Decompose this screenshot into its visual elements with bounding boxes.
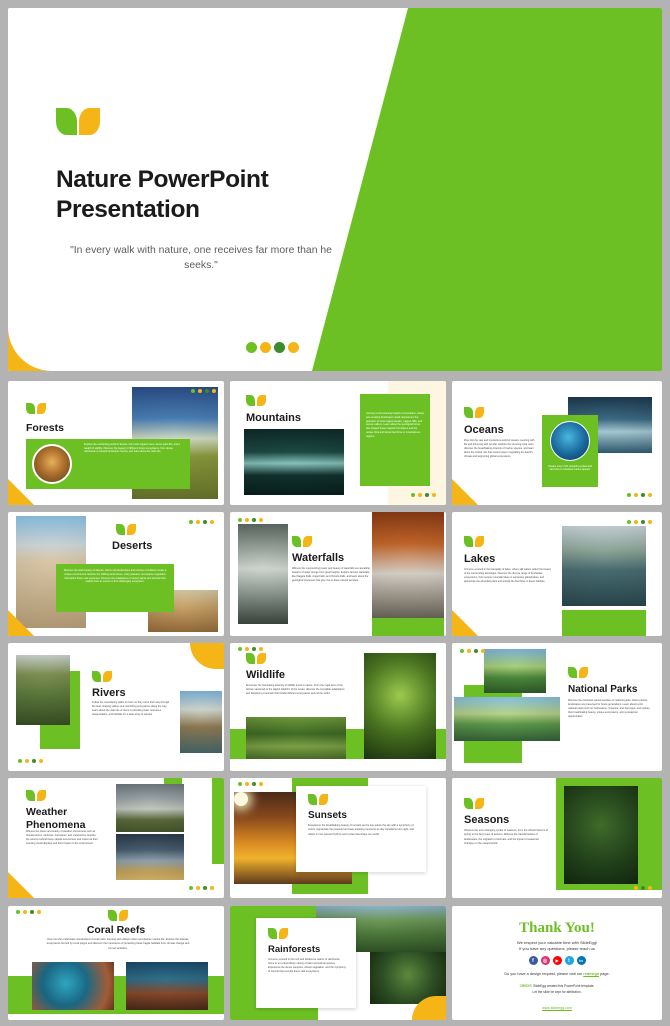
brand-leaf-logo [308, 794, 328, 805]
slide-heading: Deserts [112, 540, 152, 552]
leaf-yellow-icon [37, 403, 46, 414]
leaf-yellow-icon [103, 671, 112, 682]
slide-title[interactable]: Nature PowerPoint Presentation "In every… [8, 8, 662, 371]
leaf-green-icon [108, 910, 117, 921]
dot-4 [259, 647, 263, 651]
waterfalls-photo-right [372, 512, 444, 618]
dot-1 [238, 647, 242, 651]
leaf-green-icon [464, 407, 473, 418]
pagination-dots [191, 389, 216, 393]
slide-rivers[interactable]: Rivers Follow the meandering paths of ri… [8, 643, 224, 771]
pagination-dots [16, 910, 41, 914]
twitter-icon[interactable]: t [565, 956, 574, 965]
dot-3 [274, 342, 285, 353]
brand-leaf-logo [268, 928, 288, 939]
slide-deserts[interactable]: Deserts Discover the stark beauty of des… [8, 512, 224, 636]
leaf-green-icon [308, 794, 317, 805]
slide-national-parks[interactable]: National Parks Discover the protected na… [452, 643, 662, 771]
credit-note: Let the slide be kept for attribution. [452, 990, 662, 994]
slide-body: Dive into the vast and mysterious world … [464, 439, 538, 459]
slide-body: Immerse yourself in the lush and biodive… [268, 958, 346, 975]
design-request-prefix: Do you have a design request, please vis… [504, 972, 582, 976]
brand-leaf-logo [246, 653, 266, 664]
np-photo-top [484, 649, 546, 693]
oceans-circle-photo [550, 421, 590, 461]
slide-heading: Waterfalls [292, 552, 344, 564]
slide-rainforests[interactable]: Rainforests Immerse yourself in the lush… [230, 906, 446, 1020]
pagination-dots [627, 493, 652, 497]
slide-body: Discover the stark beauty of deserts, wh… [62, 569, 168, 584]
slide-mountains[interactable]: Mountains Journey to the towering height… [230, 381, 446, 505]
brand-leaf-logo [26, 403, 46, 414]
slide-body: Experience the breathtaking beauty of su… [308, 824, 416, 837]
leaf-green-icon [26, 403, 35, 414]
dot-1 [18, 759, 22, 763]
leaf-yellow-icon [279, 928, 288, 939]
pagination-dots [189, 520, 214, 524]
dot-3 [641, 493, 645, 497]
dot-4 [37, 910, 41, 914]
slide-waterfalls[interactable]: Waterfalls Witness the mesmerizing power… [230, 512, 446, 636]
slide-seasons[interactable]: Seasons Observe the ever-changing cycles… [452, 778, 662, 898]
slide-heading: Coral Reefs [8, 924, 224, 936]
brand-leaf-logo [108, 910, 128, 921]
leaf-yellow-icon [475, 798, 484, 809]
rivers-yellow-corner-shape [190, 643, 224, 669]
dot-2 [245, 782, 249, 786]
yellow-corner-shape [8, 872, 34, 898]
presentation-thumbnail-sheet: Nature PowerPoint Presentation "In every… [0, 0, 670, 1026]
slide-heading: Sunsets [308, 810, 347, 821]
youtube-icon[interactable]: ▶ [553, 956, 562, 965]
brand-leaf-logo [464, 407, 484, 418]
dot-1 [460, 649, 464, 653]
dot-1 [627, 886, 631, 890]
leaf-green-icon [26, 790, 35, 801]
weather-photo-bottom [116, 834, 184, 880]
rainforests-text-card: Rainforests Immerse yourself in the lush… [256, 918, 356, 1008]
leaf-yellow-icon [475, 407, 484, 418]
slide-heading: Wildlife [246, 669, 285, 681]
coral-photo-right [126, 962, 208, 1010]
np-photo-bottom [454, 697, 560, 741]
leaf-yellow-icon [257, 395, 266, 406]
slide-body: Dive into the underwater wonderland of c… [44, 938, 192, 951]
slide-heading: Lakes [464, 553, 495, 565]
yellow-corner-shape [452, 479, 478, 505]
dot-3 [203, 886, 207, 890]
dot-3 [641, 520, 645, 524]
slide-heading: Seasons [464, 814, 509, 826]
dot-4 [481, 649, 485, 653]
slide-weather-phenomena[interactable]: Weather Phenomena Witness the power and … [8, 778, 224, 898]
oceans-caption: Oceans cover 71% of Earth's surface and … [547, 465, 593, 472]
slide-heading: Weather Phenomena [26, 806, 96, 832]
weather-green-strip [212, 778, 224, 864]
pagination-dots [460, 649, 485, 653]
leaf-yellow-icon [579, 667, 588, 678]
thank-you-line-2: If you have any questions, please reach … [452, 946, 662, 952]
dot-3 [425, 493, 429, 497]
slide-body: Journey to the towering heights of mount… [366, 412, 424, 438]
pagination-dots [627, 886, 652, 890]
dot-2 [260, 342, 271, 353]
slide-heading: Oceans [464, 424, 504, 436]
dot-4 [288, 342, 299, 353]
dot-4 [432, 493, 436, 497]
dot-4 [259, 518, 263, 522]
dot-3 [252, 782, 256, 786]
dot-1 [16, 910, 20, 914]
leaf-green-icon [568, 667, 577, 678]
website-url[interactable]: www.slideegg.com [452, 1006, 662, 1010]
leaf-yellow-icon [37, 790, 46, 801]
slide-heading: Mountains [246, 412, 301, 424]
lakes-green-bar [562, 610, 646, 636]
leaf-green-icon [246, 653, 255, 664]
dot-2 [196, 886, 200, 890]
slide-body: Witness the mesmerizing power and beauty… [292, 567, 370, 583]
dot-4 [259, 782, 263, 786]
dot-4 [210, 520, 214, 524]
sunsets-text-card: Sunsets Experience the breathtaking beau… [296, 786, 426, 872]
slide-heading: Forests [26, 422, 64, 434]
dot-2 [25, 759, 29, 763]
thank-you-title: Thank You! [452, 920, 662, 937]
yellow-corner-shape [452, 610, 478, 636]
slide-thank-you[interactable]: Thank You! We respect your valuable time… [452, 906, 662, 1020]
leaf-yellow-icon [475, 536, 484, 547]
slide-body: Witness the power and beauty of weather … [26, 830, 100, 846]
credit-label: CREDIT: [520, 984, 533, 988]
slide-heading: National Parks [568, 684, 637, 695]
dot-4 [212, 389, 216, 393]
slide-heading: Rainforests [268, 944, 320, 955]
dot-2 [634, 886, 638, 890]
lakes-photo [562, 526, 646, 606]
pagination-dots [18, 759, 43, 763]
dot-1 [189, 520, 193, 524]
leaf-yellow-icon [319, 794, 328, 805]
leaf-yellow-icon [127, 524, 136, 535]
brand-leaf-logo [26, 790, 46, 801]
dot-2 [467, 649, 471, 653]
leaf-yellow-icon [79, 108, 100, 135]
pagination-dots [238, 647, 263, 651]
brand-leaf-logo [92, 671, 112, 682]
slide-forests[interactable]: Forests Explore the enchanting world of … [8, 381, 224, 505]
dot-4 [648, 493, 652, 497]
mountains-photo [244, 429, 344, 495]
coral-photo-left [32, 962, 114, 1010]
credit-line-1: CREDIT: SlideEgg created this PowerPoint… [452, 984, 662, 988]
leaf-yellow-icon [119, 910, 128, 921]
slide-lakes[interactable]: Lakes Immerse yourself in the tranquilit… [452, 512, 662, 636]
pagination-dots [238, 782, 263, 786]
design-request-suffix: page. [600, 972, 610, 976]
rivers-photo-canyon [180, 691, 222, 753]
pagination-dots [238, 518, 263, 522]
leaf-green-icon [464, 798, 473, 809]
leaf-green-icon [246, 395, 255, 406]
leaf-yellow-icon [257, 653, 266, 664]
dot-3 [474, 649, 478, 653]
slide-body: Follow the meandering paths of rivers as… [92, 701, 170, 717]
dot-2 [245, 518, 249, 522]
slide-sunsets[interactable]: Sunsets Experience the breathtaking beau… [230, 778, 446, 898]
oceans-green-text-panel: Oceans cover 71% of Earth's surface and … [542, 415, 598, 487]
dot-1 [411, 493, 415, 497]
dot-3 [32, 759, 36, 763]
dot-2 [418, 493, 422, 497]
hero-quote: "In every walk with nature, one receives… [56, 243, 346, 273]
brand-leaf-logo [464, 536, 484, 547]
page-title: Nature PowerPoint Presentation [56, 165, 346, 225]
dot-1 [189, 886, 193, 890]
mountains-green-text-panel: Journey to the towering heights of mount… [360, 394, 430, 486]
brand-leaf-logo [56, 108, 346, 135]
dot-4 [39, 759, 43, 763]
dot-1 [238, 518, 242, 522]
dot-2 [634, 520, 638, 524]
brand-leaf-logo [116, 524, 136, 535]
wildlife-photo-giraffes [246, 717, 346, 759]
seasons-photo [564, 786, 638, 884]
slide-coral-reefs[interactable]: Coral Reefs Dive into the underwater won… [8, 906, 224, 1020]
dot-4 [648, 520, 652, 524]
leaf-green-icon [292, 536, 301, 547]
waterfalls-photo-left [238, 524, 288, 624]
social-links[interactable]: f ◎ ▶ t in [452, 956, 662, 965]
leaf-yellow-icon [303, 536, 312, 547]
dot-1 [627, 520, 631, 524]
dot-4 [648, 886, 652, 890]
dot-3 [30, 910, 34, 914]
linkedin-icon[interactable]: in [577, 956, 586, 965]
wildlife-photo-canopy [364, 653, 436, 759]
waterfalls-green-bar [372, 618, 444, 636]
slide-body: Encounter the fascinating diversity of w… [246, 684, 346, 696]
slide-body: Discover the protected natural wonders o… [568, 699, 650, 719]
leaf-green-icon [116, 524, 125, 535]
brand-leaf-logo [246, 395, 266, 406]
leaf-green-icon [56, 108, 77, 135]
leaf-green-icon [268, 928, 277, 939]
brand-leaf-logo [568, 667, 588, 678]
credit-text: SlideEgg created this PowerPoint templat… [533, 984, 594, 988]
dot-2 [23, 910, 27, 914]
dot-1 [191, 389, 195, 393]
dot-2 [634, 493, 638, 497]
dot-1 [238, 782, 242, 786]
dot-3 [252, 518, 256, 522]
instagram-icon[interactable]: ◎ [541, 956, 550, 965]
slide-wildlife[interactable]: Wildlife Encounter the fascinating diver… [230, 643, 446, 771]
forests-circle-photo [32, 444, 72, 484]
slide-body: Immerse yourself in the tranquility of l… [464, 568, 552, 584]
hero-content: Nature PowerPoint Presentation "In every… [56, 108, 346, 273]
dot-2 [245, 647, 249, 651]
dot-3 [252, 647, 256, 651]
pagination-dots [189, 886, 214, 890]
rivers-photo-main [16, 655, 70, 725]
facebook-icon[interactable]: f [529, 956, 538, 965]
dot-1 [627, 493, 631, 497]
pagination-dots [411, 493, 436, 497]
slide-body: Explore the enchanting world of forests,… [84, 443, 185, 454]
brand-leaf-logo [464, 798, 484, 809]
slide-body: Observe the ever-changing cycles of seas… [464, 829, 548, 846]
slide-heading: Rivers [92, 687, 126, 699]
brand-leaf-logo [292, 536, 312, 547]
pagination-dots [627, 520, 652, 524]
dot-2 [196, 520, 200, 524]
dot-3 [205, 389, 209, 393]
redesign-link[interactable]: redesign [583, 972, 599, 976]
weather-photo-top [116, 784, 184, 832]
dot-2 [198, 389, 202, 393]
dot-3 [641, 886, 645, 890]
leaf-green-icon [464, 536, 473, 547]
leaf-green-icon [92, 671, 101, 682]
design-request-line: Do you have a design request, please vis… [452, 972, 662, 976]
dot-1 [246, 342, 257, 353]
hero-pagination-dots [246, 342, 299, 353]
slide-oceans[interactable]: Oceans Dive into the vast and mysterious… [452, 381, 662, 505]
dot-4 [210, 886, 214, 890]
deserts-green-text-panel: Discover the stark beauty of deserts, wh… [56, 564, 174, 612]
dot-3 [203, 520, 207, 524]
